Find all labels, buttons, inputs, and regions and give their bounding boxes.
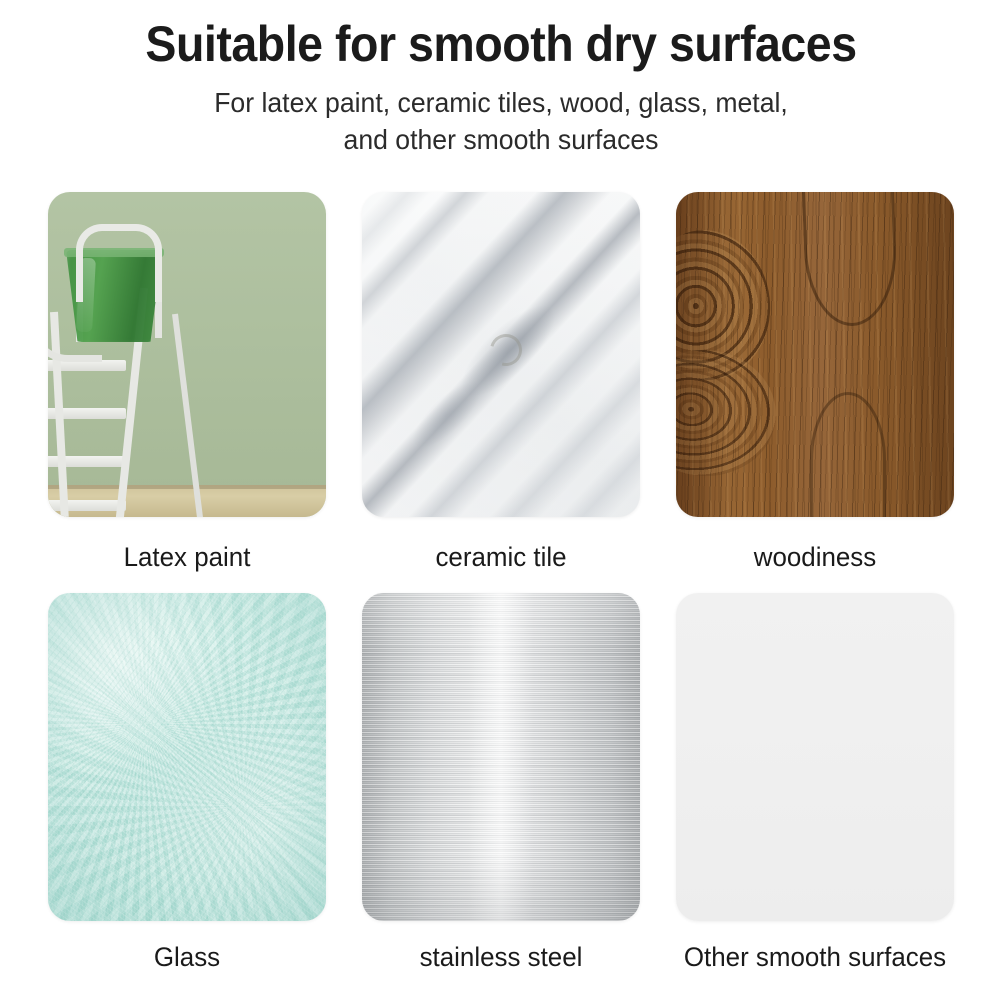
wood-edge-shading <box>676 192 954 517</box>
infographic-page: Suitable for smooth dry surfaces For lat… <box>0 0 1002 1002</box>
swatch-image-ceramic-tile <box>362 192 640 517</box>
glass-edge-shading <box>48 593 326 921</box>
swatch-caption-woodiness: woodiness <box>682 517 949 593</box>
swatch-cell-latex-paint: Latex paint <box>48 192 326 593</box>
step-ladder-icon <box>48 192 208 517</box>
surface-swatch-grid: Latex paint ceramic tile woodiness <box>48 192 954 992</box>
subtitle-line-2: and other smooth surfaces <box>25 121 977 158</box>
page-title: Suitable for smooth dry surfaces <box>35 0 967 71</box>
swatch-cell-woodiness: woodiness <box>676 192 954 593</box>
marble-vein <box>403 372 491 459</box>
swatch-cell-glass: Glass <box>48 593 326 993</box>
swatch-caption-stainless-steel: stainless steel <box>368 921 635 993</box>
swatch-cell-ceramic-tile: ceramic tile <box>362 192 640 593</box>
swatch-image-glass <box>48 593 326 921</box>
swatch-caption-glass: Glass <box>54 921 321 993</box>
ladder-rail-stem <box>155 296 162 338</box>
swatch-cell-other-smooth-surfaces: Other smooth surfaces <box>676 593 954 993</box>
swatch-image-other-smooth-surfaces <box>676 593 954 921</box>
swatch-caption-ceramic-tile: ceramic tile <box>368 517 635 593</box>
subtitle-line-1: For latex paint, ceramic tiles, wood, gl… <box>25 84 977 121</box>
swatch-image-woodiness <box>676 192 954 517</box>
swatch-image-stainless-steel <box>362 593 640 921</box>
page-subtitle: For latex paint, ceramic tiles, wood, gl… <box>25 71 977 158</box>
swatch-image-latex-paint <box>48 192 326 517</box>
header: Suitable for smooth dry surfaces For lat… <box>0 0 1002 158</box>
swatch-caption-other-smooth-surfaces: Other smooth surfaces <box>682 921 949 993</box>
swatch-cell-stainless-steel: stainless steel <box>362 593 640 993</box>
swatch-caption-latex-paint: Latex paint <box>54 517 321 593</box>
ladder-safety-rail <box>76 224 162 302</box>
steel-edge-shading <box>362 593 640 921</box>
ladder-leg <box>172 314 204 517</box>
